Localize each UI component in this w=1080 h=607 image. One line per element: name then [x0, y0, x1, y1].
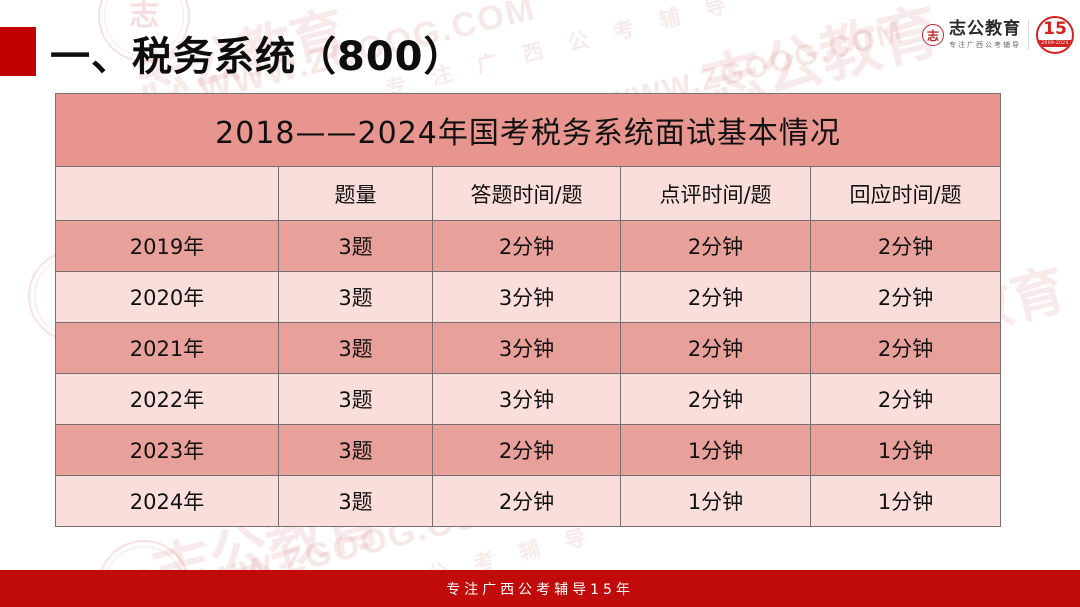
footer-slogan: 专注广西公考辅导15年: [446, 579, 634, 599]
cell-answer-time: 3分钟: [433, 323, 621, 374]
column-header-question-count: 题量: [279, 167, 433, 221]
page-title: 一、税务系统（800）: [50, 24, 465, 82]
table-title: 2018——2024年国考税务系统面试基本情况: [56, 94, 1001, 167]
column-header-answer-time: 答题时间/题: [433, 167, 621, 221]
table-row: 2022年 3题 3分钟 2分钟 2分钟: [56, 374, 1001, 425]
cell-year: 2019年: [56, 221, 279, 272]
cell-comment-time: 1分钟: [621, 476, 811, 527]
brand-subtitle: 专注广西公考辅导: [949, 42, 1021, 49]
brand-seal-icon: 志: [922, 24, 944, 46]
cell-question-count: 3题: [279, 374, 433, 425]
cell-comment-time: 2分钟: [621, 374, 811, 425]
cell-year: 2024年: [56, 476, 279, 527]
cell-question-count: 3题: [279, 476, 433, 527]
cell-comment-time: 2分钟: [621, 221, 811, 272]
anniversary-badge: 15 2009-2024: [1036, 16, 1074, 54]
table-row: 2020年 3题 3分钟 2分钟 2分钟: [56, 272, 1001, 323]
table-title-row: 2018——2024年国考税务系统面试基本情况: [56, 94, 1001, 167]
slide-canvas: 志 志 志 志 志 WWW.ZGOOG.COM WWW.ZGOOG.COM WW…: [0, 0, 1080, 607]
cell-response-time: 1分钟: [811, 425, 1001, 476]
cell-question-count: 3题: [279, 425, 433, 476]
cell-answer-time: 3分钟: [433, 374, 621, 425]
cell-response-time: 1分钟: [811, 476, 1001, 527]
cell-question-count: 3题: [279, 221, 433, 272]
table-row: 2023年 3题 2分钟 1分钟 1分钟: [56, 425, 1001, 476]
anniversary-number: 15: [1043, 21, 1067, 38]
cell-year: 2021年: [56, 323, 279, 374]
cell-comment-time: 2分钟: [621, 272, 811, 323]
brand-name: 志公教育: [949, 21, 1021, 38]
cell-year: 2020年: [56, 272, 279, 323]
cell-answer-time: 2分钟: [433, 221, 621, 272]
title-accent-block: [0, 27, 36, 76]
cell-response-time: 2分钟: [811, 323, 1001, 374]
slide-header: 一、税务系统（800） 志 志公教育 专注广西公考辅导 15 2009-2024: [0, 0, 1080, 90]
table-header-row: 题量 答题时间/题 点评时间/题 回应时间/题: [56, 167, 1001, 221]
data-table-container: 2018——2024年国考税务系统面试基本情况 题量 答题时间/题 点评时间/题…: [55, 93, 1000, 527]
cell-comment-time: 1分钟: [621, 425, 811, 476]
cell-answer-time: 2分钟: [433, 476, 621, 527]
cell-answer-time: 3分钟: [433, 272, 621, 323]
slide-footer: 专注广西公考辅导15年: [0, 570, 1080, 607]
cell-answer-time: 2分钟: [433, 425, 621, 476]
cell-question-count: 3题: [279, 323, 433, 374]
brand-text: 志公教育 专注广西公考辅导: [949, 21, 1021, 49]
cell-response-time: 2分钟: [811, 272, 1001, 323]
brand-logo: 志 志公教育 专注广西公考辅导 15 2009-2024: [922, 16, 1074, 54]
table-row: 2021年 3题 3分钟 2分钟 2分钟: [56, 323, 1001, 374]
cell-response-time: 2分钟: [811, 221, 1001, 272]
brand-mark: 志 志公教育 专注广西公考辅导: [922, 21, 1021, 49]
column-header-response-time: 回应时间/题: [811, 167, 1001, 221]
table-row: 2019年 3题 2分钟 2分钟 2分钟: [56, 221, 1001, 272]
cell-year: 2022年: [56, 374, 279, 425]
cell-year: 2023年: [56, 425, 279, 476]
brand-seal-glyph: 志: [927, 27, 939, 44]
cell-response-time: 2分钟: [811, 374, 1001, 425]
cell-question-count: 3题: [279, 272, 433, 323]
column-header-year: [56, 167, 279, 221]
table-row: 2024年 3题 2分钟 1分钟 1分钟: [56, 476, 1001, 527]
cell-comment-time: 2分钟: [621, 323, 811, 374]
interview-stats-table: 2018——2024年国考税务系统面试基本情况 题量 答题时间/题 点评时间/题…: [55, 93, 1001, 527]
anniversary-years: 2009-2024: [1038, 40, 1072, 47]
column-header-comment-time: 点评时间/题: [621, 167, 811, 221]
brand-divider: [1028, 20, 1029, 50]
